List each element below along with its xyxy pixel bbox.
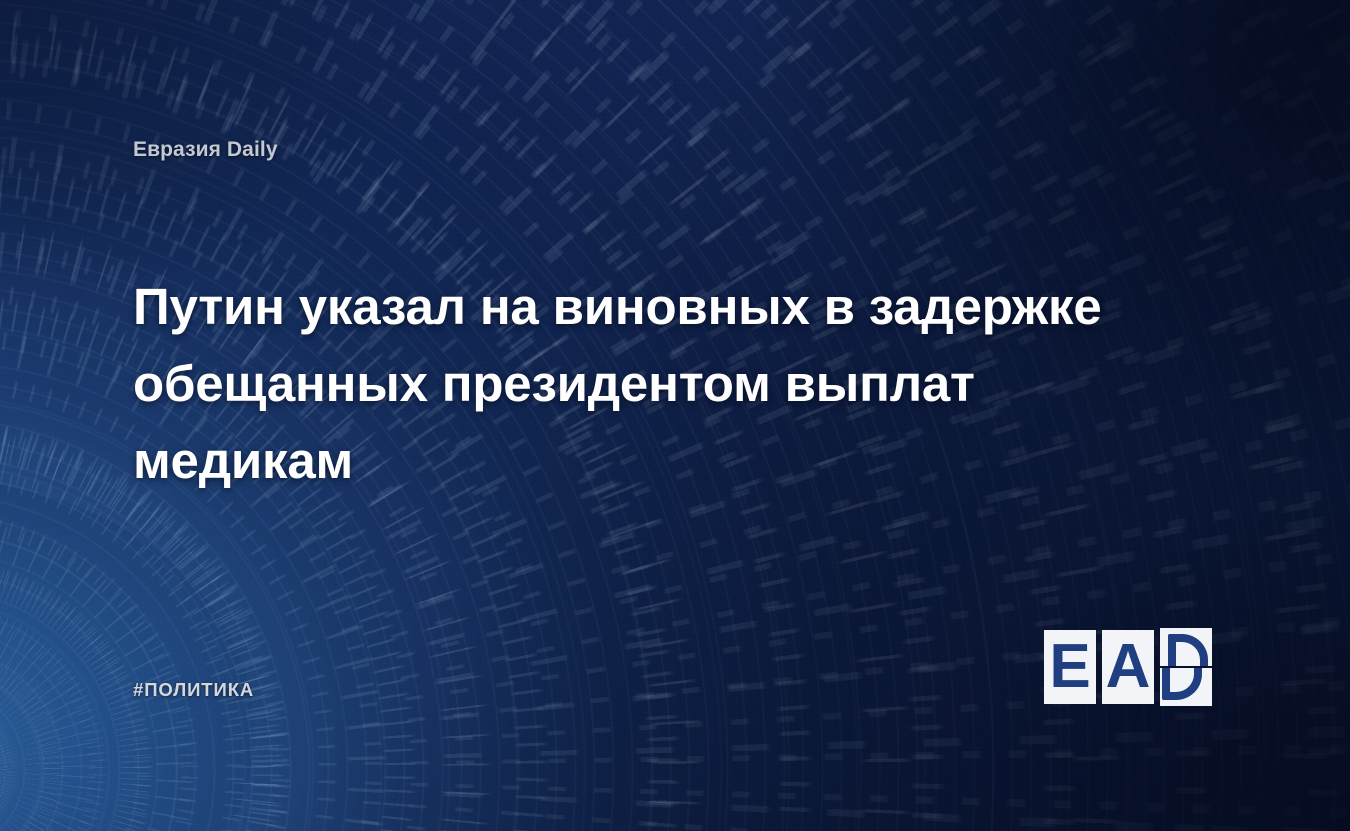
logo-letter-d-lower-half [1162,668,1202,700]
card-content: Евразия Daily Путин указал на виновных в… [0,0,1350,831]
logo-letter-d-upper-half [1168,634,1208,666]
eadaily-logo[interactable]: E A [1044,628,1226,710]
logo-tile-e: E [1044,630,1096,704]
logo-tile-d-lower [1160,668,1212,706]
publisher-name: Евразия Daily [133,138,278,162]
logo-tile-d-upper [1160,628,1212,666]
news-social-card: Евразия Daily Путин указал на виновных в… [0,0,1350,831]
logo-tile-a: A [1102,630,1154,704]
logo-letter-e: E [1044,630,1096,704]
headline: Путин указал на виновных в задержке обещ… [133,268,1193,499]
category-hashtag[interactable]: #ПОЛИТИКА [133,679,254,701]
logo-letter-a: A [1102,630,1154,704]
